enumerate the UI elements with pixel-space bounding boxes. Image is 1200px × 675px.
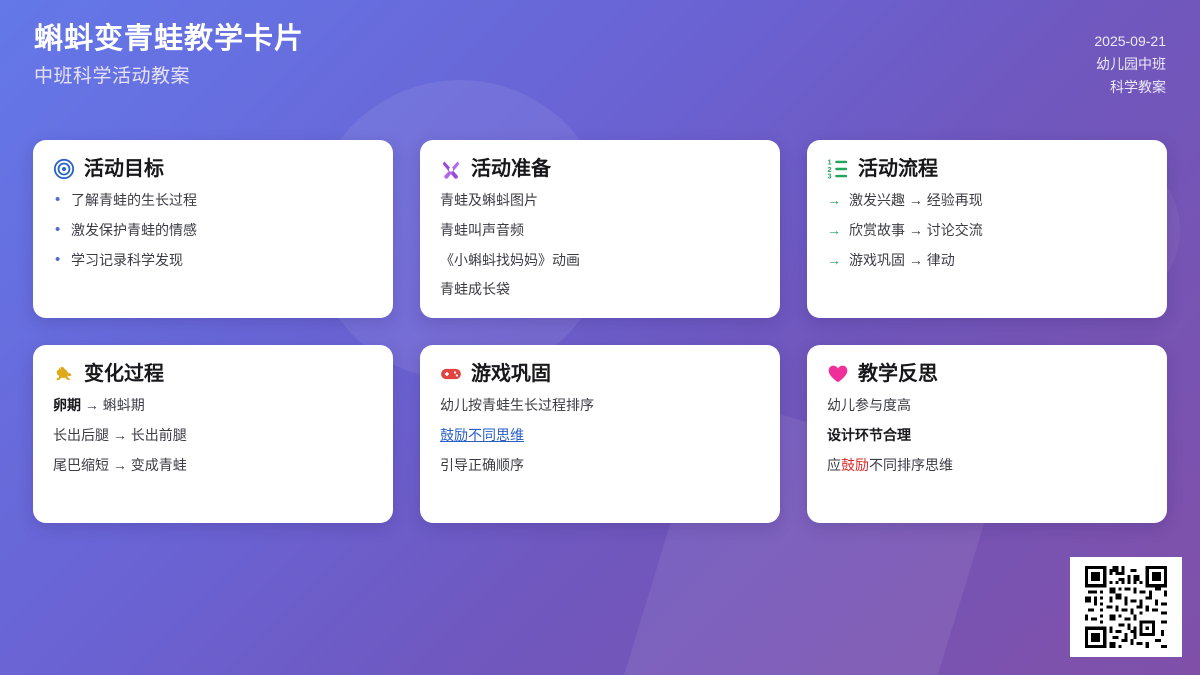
card-line: 幼儿参与度高 (827, 397, 1147, 414)
card-body: 卵期 → 蝌蚪期长出后腿 → 长出前腿尾巴缩短 → 变成青蛙 (53, 397, 373, 473)
card-title: 变化过程 (84, 362, 164, 386)
card-activity-goals: 活动目标了解青蛙的生长过程激发保护青蛙的情感学习记录科学发现 (33, 140, 393, 318)
card-header: 活动准备 (440, 157, 760, 181)
card-line: 激发兴趣 → 经验再现 (827, 192, 1147, 209)
card-teaching-reflection: 教学反思幼儿参与度高设计环节合理应鼓励不同排序思维 (807, 345, 1167, 523)
card-line: 了解青蛙的生长过程 (53, 192, 373, 209)
title-block: 蝌蚪变青蛙教学卡片 中班科学活动教案 (34, 22, 304, 89)
card-line: 设计环节合理 (827, 427, 1147, 444)
qr-code[interactable] (1070, 557, 1182, 657)
card-line: 长出后腿 → 长出前腿 (53, 427, 373, 444)
card-title: 活动准备 (471, 157, 551, 181)
card-line: 游戏巩固 → 律动 (827, 252, 1147, 269)
card-line: 青蛙叫声音频 (440, 222, 760, 239)
card-title: 游戏巩固 (471, 362, 551, 386)
card-line: 尾巴缩短 → 变成青蛙 (53, 457, 373, 474)
card-line: 青蛙成长袋 (440, 281, 760, 298)
card-line: 激发保护青蛙的情感 (53, 222, 373, 239)
meta-date: 2025-09-21 (1094, 30, 1166, 53)
inline-link[interactable]: 鼓励不同思维 (440, 427, 524, 443)
card-body: 幼儿参与度高设计环节合理应鼓励不同排序思维 (827, 397, 1147, 473)
card-title: 教学反思 (858, 362, 938, 386)
page-header: 蝌蚪变青蛙教学卡片 中班科学活动教案 2025-09-21 幼儿园中班 科学教案 (0, 0, 1200, 125)
card-line: 应鼓励不同排序思维 (827, 457, 1147, 474)
card-game-consolidation: 游戏巩固幼儿按青蛙生长过程排序鼓励不同思维引导正确顺序 (420, 345, 780, 523)
card-title: 活动目标 (84, 157, 164, 181)
card-line: 欣赏故事 → 讨论交流 (827, 222, 1147, 239)
numbered-list-icon: 1 2 3 (827, 158, 849, 180)
meta-category: 科学教案 (1094, 76, 1166, 99)
text-suffix: 不同排序思维 (869, 457, 953, 473)
text-prefix: 应 (827, 457, 841, 473)
frog-icon (53, 363, 75, 385)
card-activity-flow: 1 2 3 活动流程激发兴趣 → 经验再现欣赏故事 → 讨论交流游戏巩固 → 律… (807, 140, 1167, 318)
highlighted-text: 鼓励 (841, 457, 869, 473)
card-activity-preparation: 活动准备青蛙及蝌蚪图片青蛙叫声音频《小蝌蚪找妈妈》动画青蛙成长袋 (420, 140, 780, 318)
card-body: 幼儿按青蛙生长过程排序鼓励不同思维引导正确顺序 (440, 397, 760, 473)
card-line: 青蛙及蝌蚪图片 (440, 192, 760, 209)
gamepad-icon (440, 363, 462, 385)
card-transformation-process: 变化过程卵期 → 蝌蚪期长出后腿 → 长出前腿尾巴缩短 → 变成青蛙 (33, 345, 393, 523)
card-line: 幼儿按青蛙生长过程排序 (440, 397, 760, 414)
card-line: 《小蝌蚪找妈妈》动画 (440, 252, 760, 269)
card-line[interactable]: 鼓励不同思维 (440, 427, 760, 444)
heart-icon (827, 363, 849, 385)
bold-text: 卵期 (53, 397, 81, 413)
meta-grade: 幼儿园中班 (1094, 53, 1166, 76)
page-subtitle: 中班科学活动教案 (34, 66, 304, 89)
card-line: 学习记录科学发现 (53, 252, 373, 269)
header-meta: 2025-09-21 幼儿园中班 科学教案 (1094, 22, 1166, 99)
card-line: 引导正确顺序 (440, 457, 760, 474)
card-title: 活动流程 (858, 157, 938, 181)
card-header: 变化过程 (53, 362, 373, 386)
card-body: 激发兴趣 → 经验再现欣赏故事 → 讨论交流游戏巩固 → 律动 (827, 192, 1147, 268)
slide-canvas: 蝌蚪变青蛙教学卡片 中班科学活动教案 2025-09-21 幼儿园中班 科学教案… (0, 0, 1200, 675)
card-header: 游戏巩固 (440, 362, 760, 386)
bold-text: 设计环节合理 (827, 427, 911, 443)
card-header: 1 2 3 活动流程 (827, 157, 1147, 181)
card-line: 卵期 → 蝌蚪期 (53, 397, 373, 414)
svg-text:3: 3 (827, 172, 831, 180)
tools-icon (440, 158, 462, 180)
card-header: 教学反思 (827, 362, 1147, 386)
target-icon (53, 158, 75, 180)
page-title: 蝌蚪变青蛙教学卡片 (34, 22, 304, 57)
card-grid: 活动目标了解青蛙的生长过程激发保护青蛙的情感学习记录科学发现 活动准备青蛙及蝌蚪… (33, 140, 1167, 523)
card-body: 青蛙及蝌蚪图片青蛙叫声音频《小蝌蚪找妈妈》动画青蛙成长袋 (440, 192, 760, 298)
card-body: 了解青蛙的生长过程激发保护青蛙的情感学习记录科学发现 (53, 192, 373, 268)
line-text: → 蝌蚪期 (81, 397, 145, 413)
card-header: 活动目标 (53, 157, 373, 181)
